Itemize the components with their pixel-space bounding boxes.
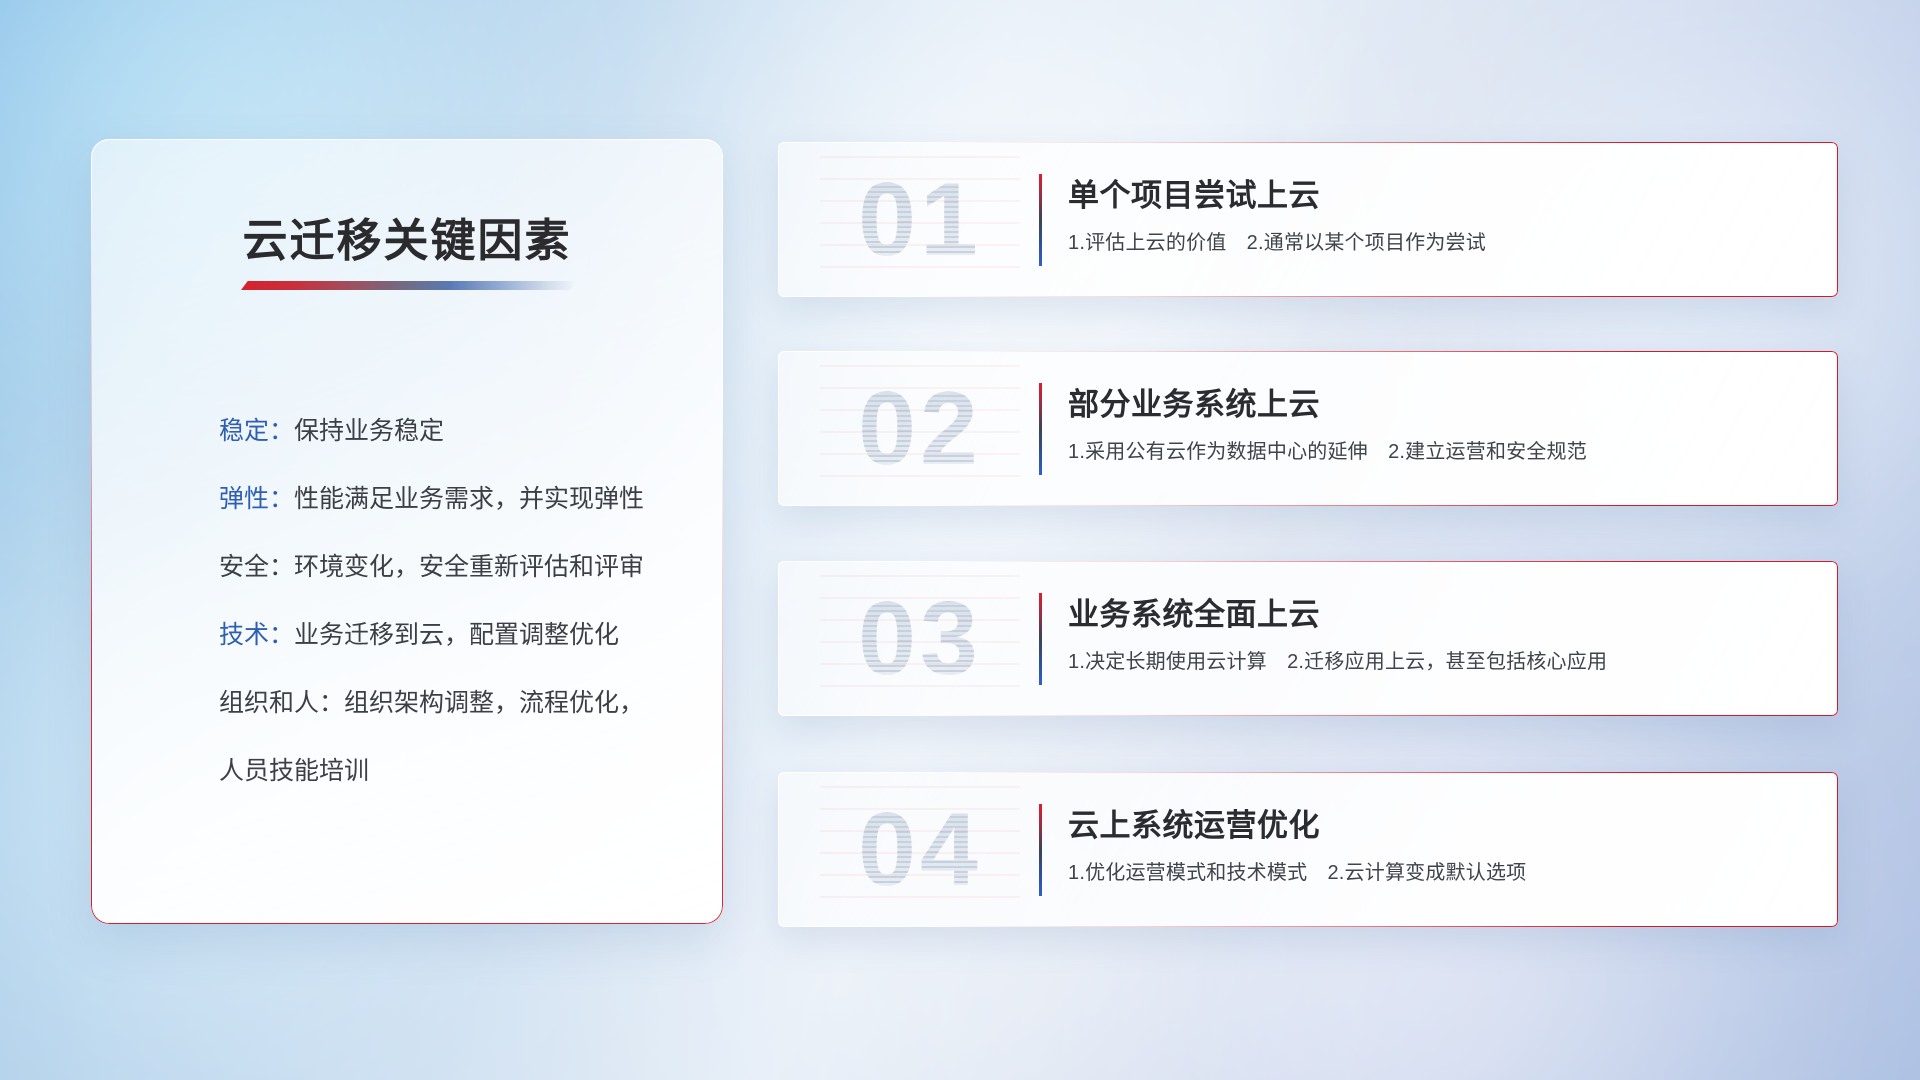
title-underline-accent — [241, 281, 577, 290]
card-title: 单个项目尝试上云 — [1068, 170, 1320, 215]
list-item: 弹性：性能满足业务需求，并实现弹性 — [219, 483, 683, 515]
list-item: 稳定：保持业务稳定 — [219, 415, 683, 447]
factor-value: 业务迁移到云，配置调整优化 — [294, 621, 619, 649]
card-divider-bar — [1039, 383, 1042, 475]
card-divider-bar — [1039, 174, 1042, 266]
stage-card[interactable]: 02 部分业务系统上云 1.采用公有云作为数据中心的延伸 2.建立运营和安全规范 — [778, 351, 1838, 506]
stage-number: 02 — [820, 365, 1020, 493]
factor-value: 组织架构调整，流程优化， — [344, 689, 644, 717]
key-factors-list: 稳定：保持业务稳定 弹性：性能满足业务需求，并实现弹性 安全：环境变化，安全重新… — [219, 415, 683, 823]
stage-number: 01 — [820, 156, 1020, 284]
card-title: 部分业务系统上云 — [1068, 379, 1320, 424]
factor-value-continued: 人员技能培训 — [219, 755, 683, 787]
slide-stage: 云迁移关键因素 稳定：保持业务稳定 弹性：性能满足业务需求，并实现弹性 安全：环… — [0, 0, 1920, 1080]
list-item: 组织和人：组织架构调整，流程优化， — [219, 687, 683, 719]
stage-card[interactable]: 04 云上系统运营优化 1.优化运营模式和技术模式 2.云计算变成默认选项 — [778, 772, 1838, 927]
list-item: 技术：业务迁移到云，配置调整优化 — [219, 619, 683, 651]
stage-card[interactable]: 01 单个项目尝试上云 1.评估上云的价值 2.通常以某个项目作为尝试 — [778, 142, 1838, 297]
page-title: 云迁移关键因素 — [91, 204, 723, 269]
list-item: 安全：环境变化，安全重新评估和评审 — [219, 551, 683, 583]
stage-number: 04 — [820, 786, 1020, 914]
card-description: 1.决定长期使用云计算 2.迁移应用上云，甚至包括核心应用 — [1068, 645, 1607, 674]
factor-label: 组织和人： — [219, 689, 344, 717]
card-description: 1.采用公有云作为数据中心的延伸 2.建立运营和安全规范 — [1068, 435, 1587, 464]
factor-label: 安全： — [219, 553, 294, 581]
card-title: 业务系统全面上云 — [1068, 589, 1320, 634]
stage-number: 03 — [820, 575, 1020, 703]
factor-value: 环境变化，安全重新评估和评审 — [294, 553, 644, 581]
factor-label: 弹性： — [219, 485, 294, 513]
card-description: 1.评估上云的价值 2.通常以某个项目作为尝试 — [1068, 226, 1486, 255]
card-divider-bar — [1039, 593, 1042, 685]
stage-card[interactable]: 03 业务系统全面上云 1.决定长期使用云计算 2.迁移应用上云，甚至包括核心应… — [778, 561, 1838, 716]
factor-value: 保持业务稳定 — [294, 417, 444, 445]
factor-label: 稳定： — [219, 417, 294, 445]
key-factors-panel: 云迁移关键因素 稳定：保持业务稳定 弹性：性能满足业务需求，并实现弹性 安全：环… — [91, 139, 723, 924]
factor-value: 性能满足业务需求，并实现弹性 — [294, 485, 644, 513]
card-divider-bar — [1039, 804, 1042, 896]
card-title: 云上系统运营优化 — [1068, 800, 1320, 845]
factor-label: 技术： — [219, 621, 294, 649]
card-description: 1.优化运营模式和技术模式 2.云计算变成默认选项 — [1068, 856, 1526, 885]
